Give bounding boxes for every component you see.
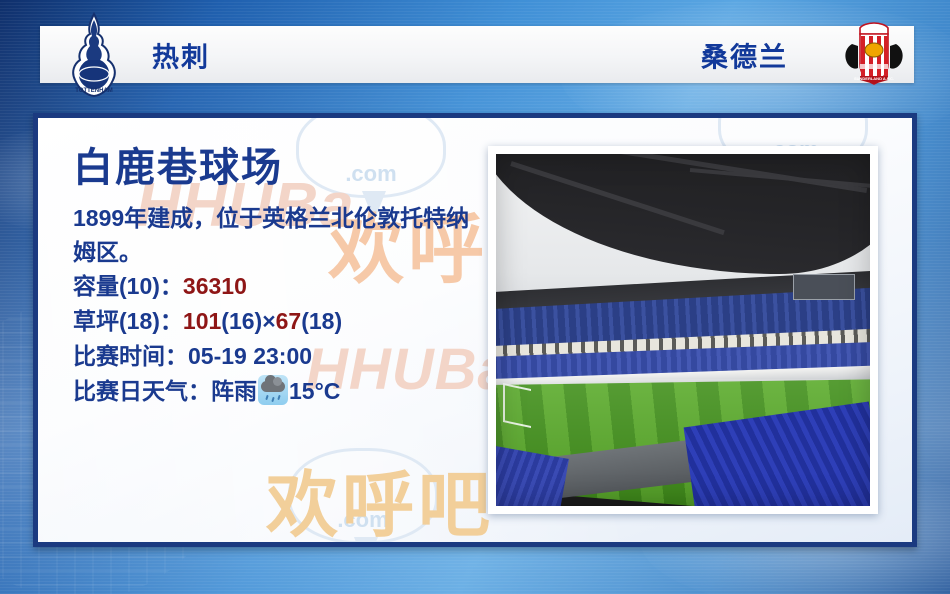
pitch-width-rank: (18) bbox=[301, 308, 342, 334]
home-team-name: 热刺 bbox=[152, 35, 210, 74]
match-time-value: 05-19 23:00 bbox=[188, 343, 312, 369]
weather-label: 比赛日天气： bbox=[73, 378, 211, 404]
watermark-brand-cn: 欢呼吧 bbox=[266, 446, 494, 547]
match-weather-row: 比赛日天气：阵雨 15°C bbox=[73, 374, 493, 409]
stadium-info-card: 热刺 桑德兰 TOTTENHAM bbox=[0, 0, 950, 594]
pitch-row: 草坪(18)：101(16)×67(18) bbox=[73, 304, 493, 339]
match-header-bar: 热刺 桑德兰 bbox=[40, 26, 914, 83]
away-team-name: 桑德兰 bbox=[701, 35, 788, 74]
match-time-row: 比赛时间：05-19 23:00 bbox=[73, 339, 493, 374]
svg-text:SUNDERLAND A.F.C.: SUNDERLAND A.F.C. bbox=[854, 76, 894, 81]
watermark-bubble: .com bbox=[288, 448, 438, 544]
tottenham-hotspur-crest-icon: TOTTENHAM bbox=[66, 12, 122, 98]
pitch-length: 101 bbox=[183, 308, 221, 334]
weather-temperature: 15°C bbox=[289, 378, 340, 404]
pitch-multiply-sign: × bbox=[262, 308, 275, 334]
stadium-photo-frame bbox=[488, 146, 878, 514]
pitch-width: 67 bbox=[276, 308, 302, 334]
capacity-row: 容量(10)：36310 bbox=[73, 269, 493, 304]
pitch-length-rank: (16) bbox=[221, 308, 262, 334]
sunderland-afc-crest-icon: SUNDERLAND A.F.C. bbox=[838, 20, 910, 88]
content-panel: .com .com .com HHUBa HHUBa 欢呼网 欢呼吧 白鹿巷球场… bbox=[33, 113, 917, 547]
stadium-description: 1899年建成，位于英格兰北伦敦托特纳姆区。 bbox=[73, 202, 483, 269]
stadium-photo bbox=[496, 154, 870, 506]
pitch-label: 草坪(18)： bbox=[73, 308, 183, 334]
stadium-title: 白鹿巷球场 bbox=[73, 146, 493, 190]
stadium-info-block: 白鹿巷球场 1899年建成，位于英格兰北伦敦托特纳姆区。 容量(10)：3631… bbox=[73, 146, 493, 409]
weather-condition: 阵雨 bbox=[211, 378, 257, 404]
svg-text:TOTTENHAM: TOTTENHAM bbox=[75, 88, 113, 94]
capacity-value: 36310 bbox=[183, 273, 247, 299]
rain-shower-icon bbox=[258, 375, 288, 405]
match-time-label: 比赛时间： bbox=[73, 343, 188, 369]
capacity-label: 容量(10)： bbox=[73, 273, 183, 299]
